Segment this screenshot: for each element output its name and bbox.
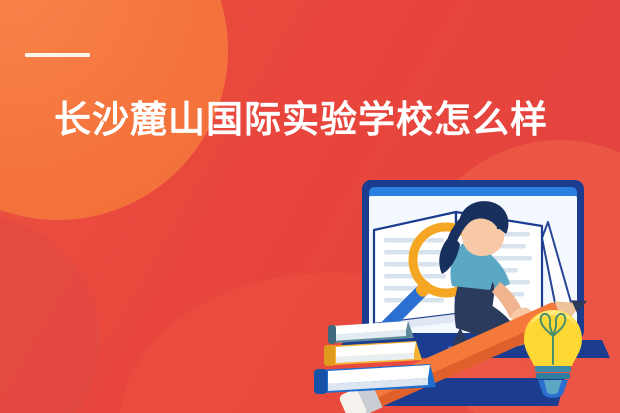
book-yellow xyxy=(324,341,422,366)
student-research-illustration xyxy=(310,178,620,413)
page-title: 长沙麓山国际实验学校怎么样 xyxy=(54,99,548,142)
banner-root: 长沙麓山国际实验学校怎么样 xyxy=(0,0,620,413)
accent-rule xyxy=(25,53,90,57)
